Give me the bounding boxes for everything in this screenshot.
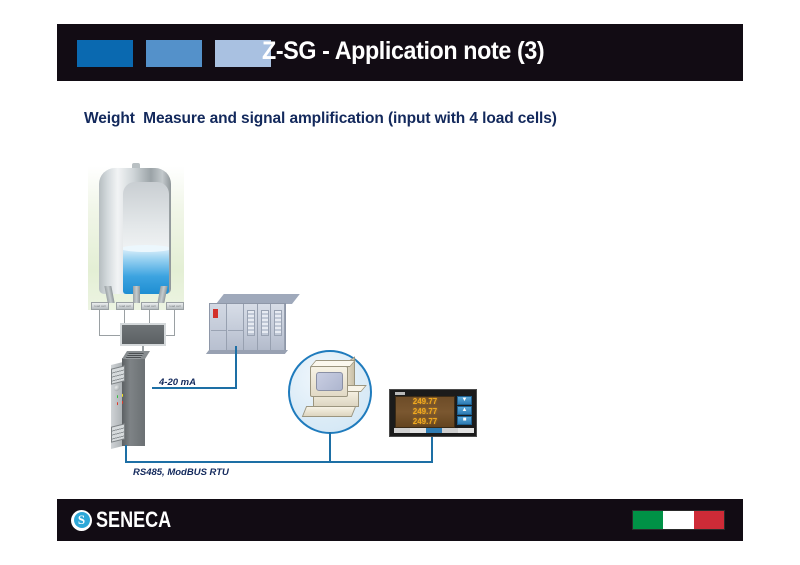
- zsg-led-red: [117, 402, 118, 405]
- plc-divider: [228, 330, 245, 331]
- plc-io-module-3: [271, 304, 285, 350]
- plc-divider: [211, 330, 226, 331]
- zsg-led-red-2: [122, 401, 123, 404]
- tank-body: [99, 168, 171, 294]
- header-swatches: [77, 40, 271, 67]
- plc-terminal-slot: [247, 310, 255, 336]
- panel-key-down[interactable]: ▼: [457, 396, 472, 405]
- application-diagram: load cell load cell load cell load cell: [0, 150, 800, 490]
- header-swatch-1: [77, 40, 133, 67]
- silo-tank: [88, 160, 184, 310]
- loadcell-wire: [149, 310, 150, 323]
- rs485-wire-zsg-drop: [125, 445, 127, 462]
- panel-value-2: 249.77: [413, 407, 437, 417]
- plc-cpu-module: [227, 304, 245, 350]
- panel-key-group: ▼ ▲ ■: [457, 396, 472, 425]
- zsg-led-yellow: [122, 394, 123, 397]
- plc-rack: [209, 294, 293, 356]
- load-cell-label: load cell: [142, 303, 158, 310]
- loadcell-wire: [99, 335, 121, 336]
- plc-terminal-slot: [274, 310, 282, 336]
- pc-screen: [316, 372, 343, 391]
- plc-io-module-1: [244, 304, 258, 350]
- pc-keyboard: [302, 406, 356, 417]
- plc-status-led: [213, 309, 218, 318]
- supervision-pc: [300, 358, 372, 430]
- junction-box: [120, 323, 166, 346]
- loadcell-wire: [165, 335, 175, 336]
- load-cell-3: load cell: [141, 302, 159, 310]
- load-cell-label: load cell: [92, 303, 108, 310]
- footer-bar: S SENECA: [57, 499, 743, 541]
- panel-key-up[interactable]: ▲: [457, 406, 472, 415]
- italian-flag: [632, 510, 725, 530]
- load-cell-label: load cell: [167, 303, 183, 310]
- tank-leg: [133, 286, 140, 303]
- panel-bottom-bar: [394, 428, 474, 433]
- panel-bottom-seg-active: [426, 428, 442, 433]
- loadcell-wire: [174, 310, 175, 335]
- page-title: Z-SG - Application note (3): [262, 37, 544, 66]
- seneca-logo-mark: S: [71, 510, 92, 531]
- analog-wire-vertical: [235, 346, 237, 389]
- rs485-wire-panel-riser: [431, 437, 433, 462]
- seneca-logo-letter: S: [74, 512, 90, 528]
- plc-power-module: [210, 304, 227, 350]
- pc-monitor: [310, 366, 348, 397]
- zsg-led-green: [117, 395, 118, 398]
- panel-value-3: 249.77: [413, 417, 437, 427]
- seneca-logo: S SENECA: [71, 507, 188, 533]
- load-cell-4: load cell: [166, 302, 184, 310]
- zsg-led-group: [113, 394, 123, 410]
- plc-terminal-slot: [261, 310, 269, 336]
- panel-bottom-seg: [442, 428, 458, 433]
- panel-key-enter[interactable]: ■: [457, 416, 472, 425]
- load-cell-label: load cell: [117, 303, 133, 310]
- rs485-bus-line: [125, 461, 433, 463]
- zsg-front-face: [122, 358, 145, 446]
- panel-value-1: 249.77: [413, 397, 437, 407]
- panel-display: 249.77 249.77 249.77 ▼ ▲ ■: [389, 389, 477, 437]
- panel-screen: 249.77 249.77 249.77: [395, 396, 455, 428]
- plc-io-module-2: [258, 304, 272, 350]
- load-cell-2: load cell: [116, 302, 134, 310]
- loadcell-wire: [99, 310, 100, 335]
- header-swatch-2: [146, 40, 202, 67]
- flag-band-white: [663, 511, 693, 529]
- plc-front-face: [209, 303, 286, 351]
- header-bar: Z-SG - Application note (3): [57, 24, 743, 81]
- tank-inner: [123, 182, 169, 294]
- plc-bottom-face: [206, 350, 288, 354]
- flag-band-green: [633, 511, 663, 529]
- panel-top-marking: [395, 392, 405, 395]
- analog-output-label: 4-20 mA: [159, 377, 196, 388]
- panel-bottom-seg: [410, 428, 426, 433]
- subtitle: Weight Measure and signal amplification …: [84, 110, 557, 128]
- load-cell-1: load cell: [91, 302, 109, 310]
- flag-band-red: [694, 511, 724, 529]
- seneca-logo-text: SENECA: [96, 507, 171, 533]
- tank-liquid-surface: [123, 245, 169, 252]
- zsg-module: [111, 355, 157, 451]
- rs485-wire-pc-riser: [329, 432, 331, 462]
- loadcell-wire: [124, 310, 125, 323]
- panel-bottom-seg: [458, 428, 474, 433]
- serial-bus-label: RS485, ModBUS RTU: [133, 467, 229, 478]
- panel-bottom-seg: [394, 428, 410, 433]
- slide: Z-SG - Application note (3) Weight Measu…: [0, 0, 800, 565]
